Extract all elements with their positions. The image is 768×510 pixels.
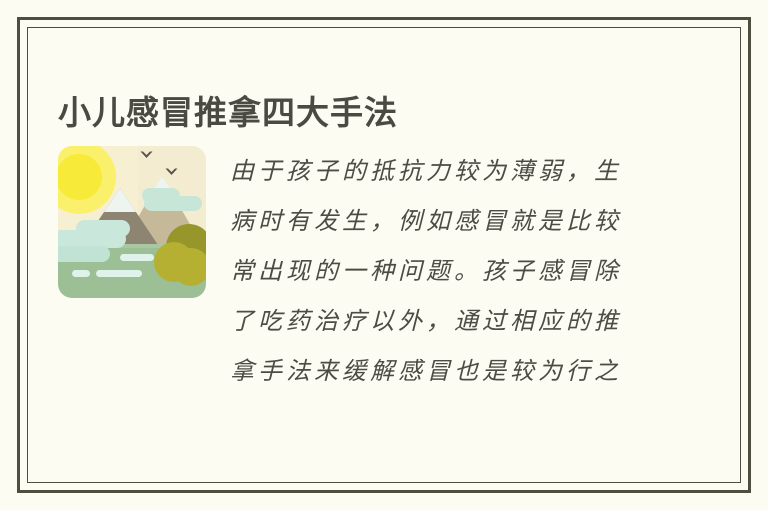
- body-line: 常出现的一种问题。孩子感冒除: [230, 247, 660, 297]
- water-ripple: [96, 270, 142, 277]
- body-line: 病时有发生，例如感冒就是比较: [230, 197, 660, 247]
- body-line: 了吃药治疗以外，通过相应的推: [230, 297, 660, 347]
- article-thumbnail-image: [58, 146, 206, 298]
- water-ripple: [72, 270, 90, 277]
- body-line: 由于孩子的抵抗力较为薄弱，生: [230, 147, 660, 197]
- mountain-front-snowcap: [104, 188, 136, 212]
- cloud-icon: [58, 246, 110, 262]
- bird-icon: [140, 151, 153, 160]
- water-ripple: [120, 254, 154, 261]
- article-body: 由于孩子的抵抗力较为薄弱，生 病时有发生，例如感冒就是比较 常出现的一种问题。孩…: [230, 147, 660, 397]
- article-card: 小儿感冒推拿四大手法: [0, 0, 768, 510]
- body-line: 拿手法来缓解感冒也是较为行之: [230, 347, 660, 397]
- cloud-icon: [144, 196, 202, 211]
- card-content: 小儿感冒推拿四大手法: [27, 27, 741, 483]
- page-title: 小儿感冒推拿四大手法: [58, 93, 398, 133]
- tree-icon: [172, 248, 206, 286]
